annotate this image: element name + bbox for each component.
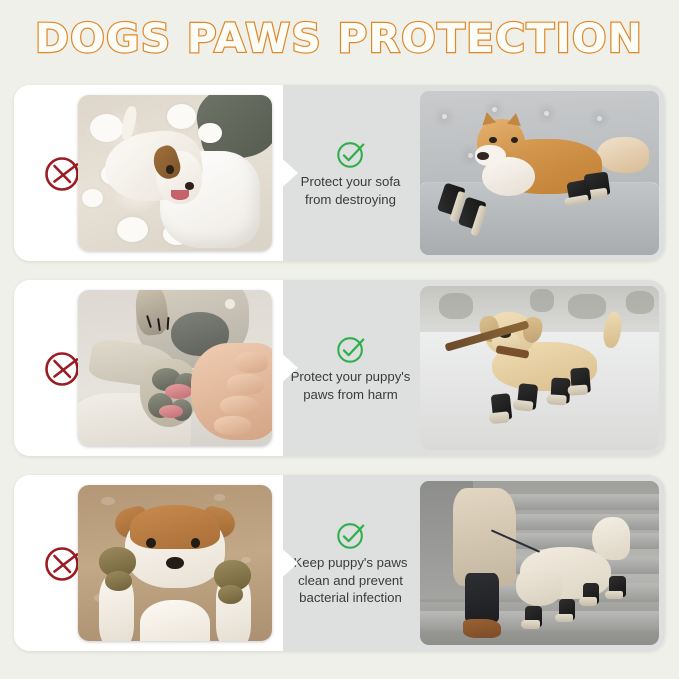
benefit-text-2: Protect your puppy's paws from harm bbox=[291, 368, 411, 403]
benefit-zone-1: Protect your sofa from destroying bbox=[283, 85, 418, 261]
check-circle-icon bbox=[335, 333, 367, 365]
benefit-text-3: Keep puppy's paws clean and prevent bact… bbox=[294, 554, 408, 607]
solution-photo-2 bbox=[420, 286, 659, 450]
product-boot bbox=[566, 179, 591, 204]
benefit-panel-1: Protect your sofa from destroying bbox=[14, 85, 665, 261]
problem-photo-2 bbox=[78, 290, 272, 446]
benefit-text-1: Protect your sofa from destroying bbox=[301, 173, 401, 208]
benefit-zone-3: Keep puppy's paws clean and prevent bact… bbox=[283, 475, 418, 651]
product-boot bbox=[559, 599, 576, 620]
product-boot bbox=[517, 383, 539, 409]
solution-zone-1 bbox=[418, 85, 665, 261]
solution-photo-1 bbox=[420, 91, 659, 255]
page-title: DOGS PAWS PROTECTION bbox=[35, 19, 643, 59]
solution-zone-2 bbox=[418, 280, 665, 456]
problem-zone-2 bbox=[14, 280, 283, 456]
product-boot bbox=[490, 393, 512, 421]
product-boot bbox=[570, 367, 591, 393]
arrow-right-icon bbox=[276, 543, 298, 583]
solution-zone-3 bbox=[418, 475, 665, 651]
product-boot bbox=[525, 606, 542, 627]
arrow-right-icon bbox=[276, 348, 298, 388]
benefit-panel-3: Keep puppy's paws clean and prevent bact… bbox=[14, 475, 665, 651]
check-circle-icon bbox=[335, 519, 367, 551]
benefit-zone-2: Protect your puppy's paws from harm bbox=[283, 280, 418, 456]
benefit-panel-2: Protect your puppy's paws from harm bbox=[14, 280, 665, 456]
product-boot bbox=[583, 583, 600, 604]
problem-zone-1 bbox=[14, 85, 283, 261]
page-header: DOGS PAWS PROTECTION bbox=[0, 0, 679, 78]
check-circle-icon bbox=[335, 138, 367, 170]
problem-photo-1 bbox=[78, 95, 272, 251]
problem-zone-3 bbox=[14, 475, 283, 651]
problem-photo-3 bbox=[78, 485, 272, 641]
arrow-right-icon bbox=[276, 153, 298, 193]
product-boot bbox=[609, 576, 626, 597]
solution-photo-3 bbox=[420, 481, 659, 645]
